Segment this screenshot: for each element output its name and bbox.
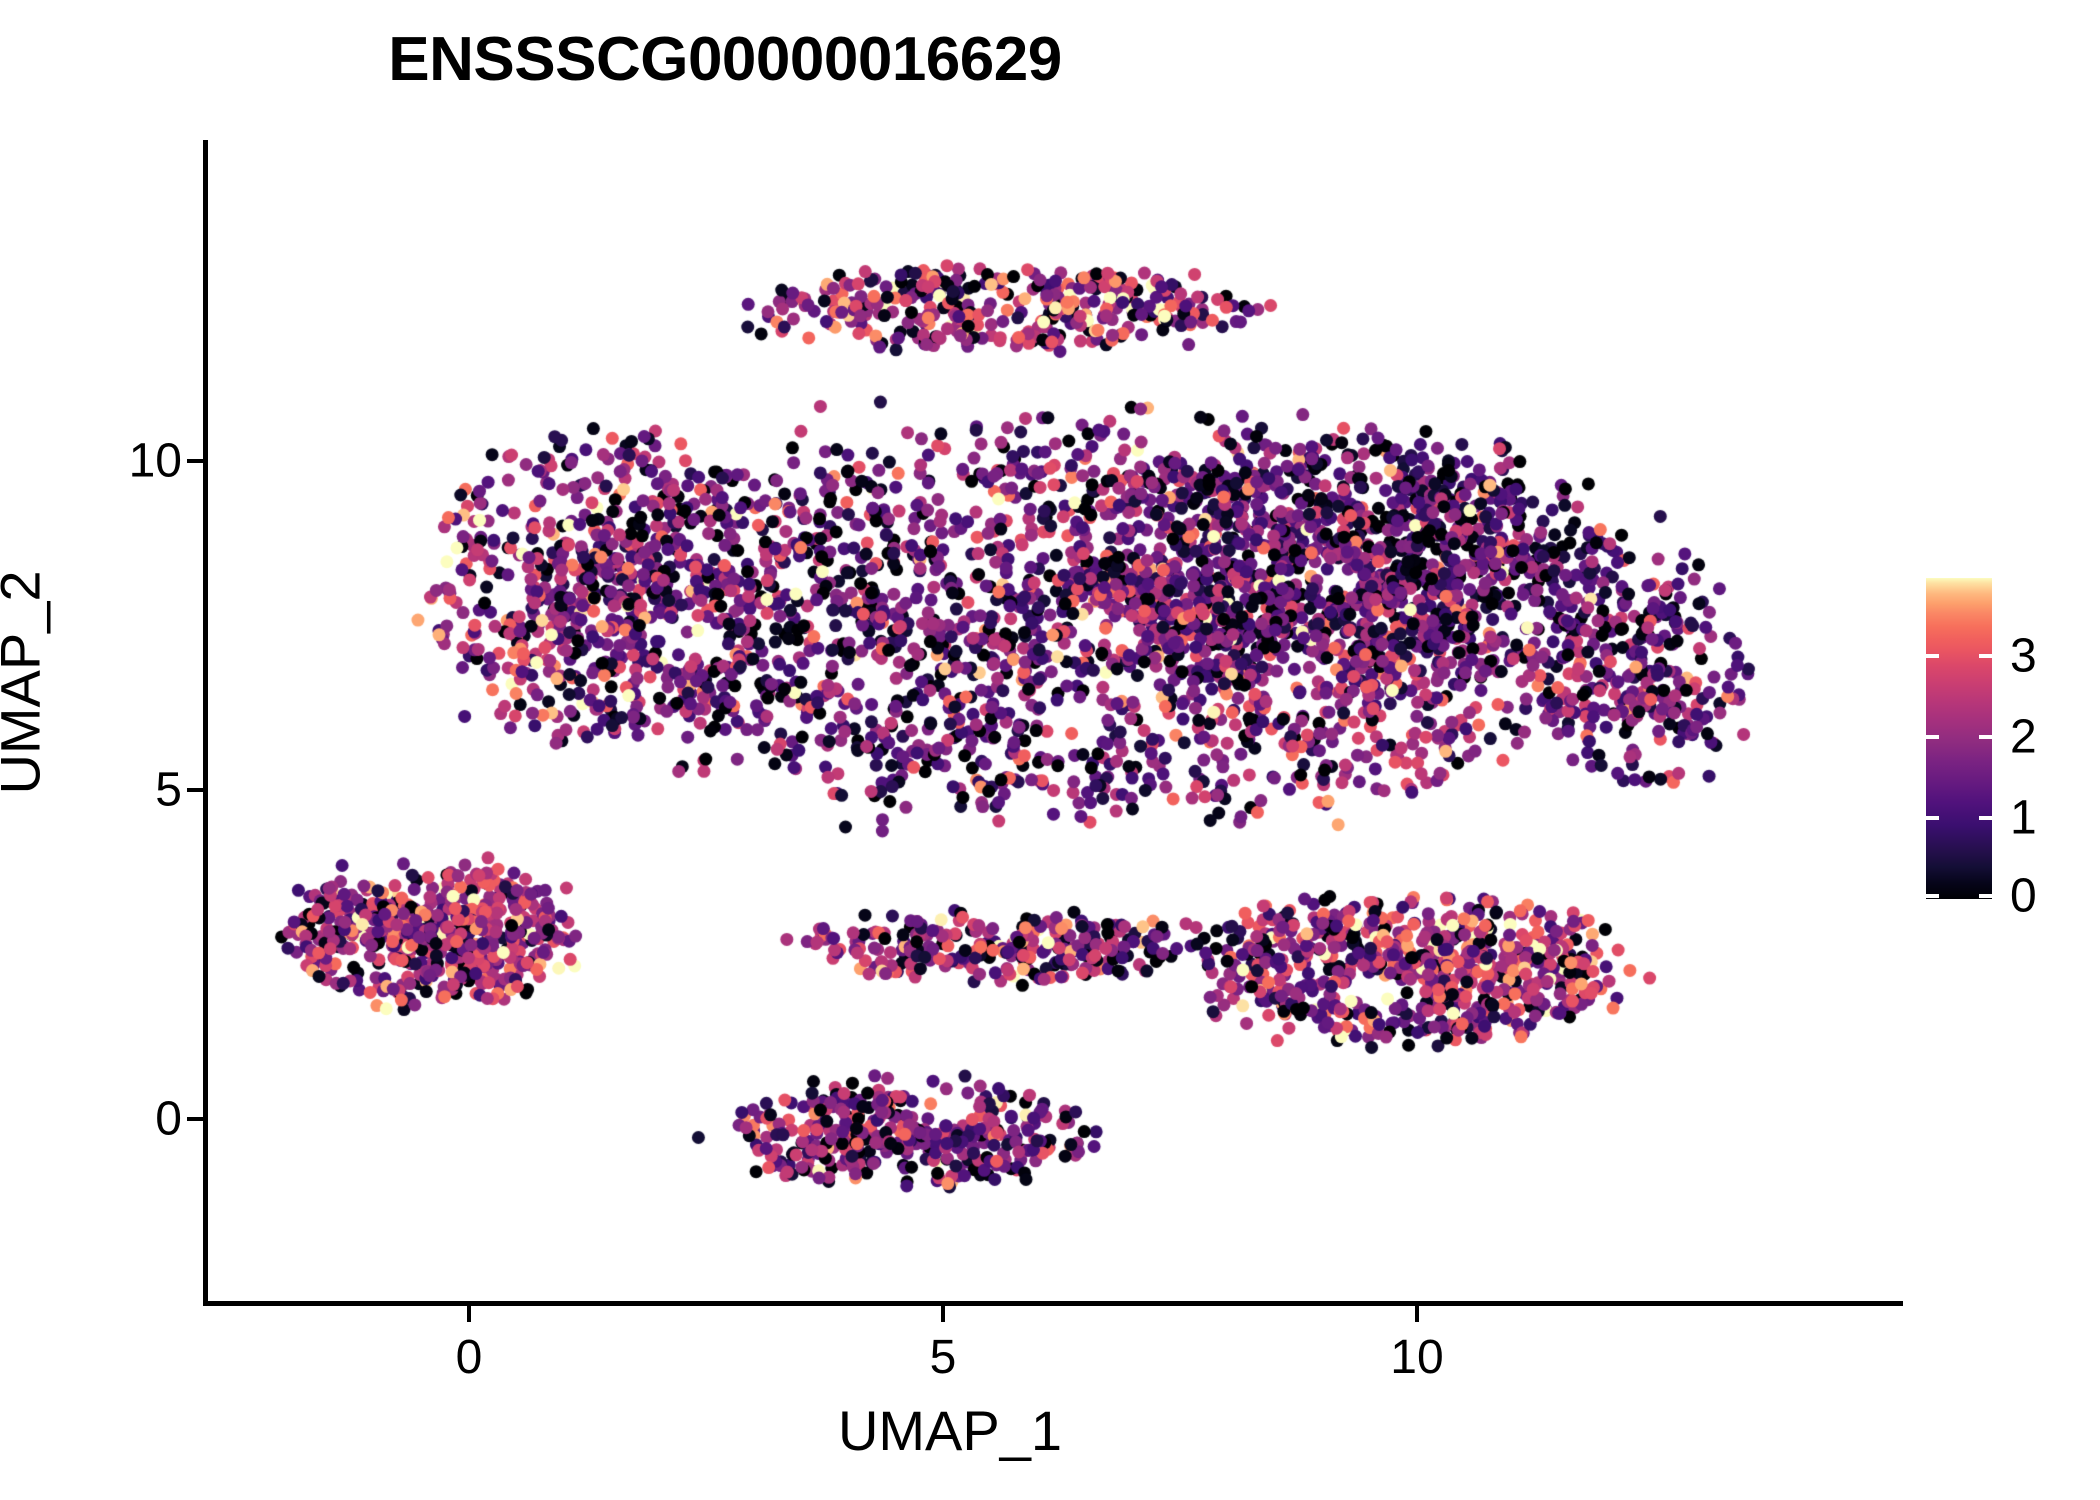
x-tick-mark-5 [941, 1306, 945, 1322]
x-tick-mark-0 [467, 1306, 471, 1322]
colorbar-legend: 3 2 1 0 [1926, 578, 1992, 899]
x-axis-line [203, 1301, 1903, 1306]
colorbar-label-0: 0 [2010, 869, 2037, 924]
y-tick-label-5: 5 [155, 763, 182, 818]
colorbar-tick-3-right [1979, 654, 1992, 658]
colorbar-label-3: 3 [2010, 629, 2037, 684]
colorbar-label-2: 2 [2010, 710, 2037, 765]
colorbar-label-1: 1 [2010, 791, 2037, 846]
scatter-plot-canvas [205, 140, 1855, 1303]
y-tick-label-10: 10 [129, 434, 182, 489]
y-tick-mark-10 [187, 459, 203, 463]
x-tick-label-5: 5 [930, 1330, 957, 1385]
colorbar-tick-1-left [1926, 816, 1939, 820]
x-tick-label-0: 0 [456, 1330, 483, 1385]
y-tick-label-0: 0 [155, 1092, 182, 1147]
y-axis-title: UMAP_2 [0, 283, 53, 1083]
y-axis-line [203, 140, 208, 1306]
colorbar-tick-0-left [1926, 894, 1939, 898]
x-tick-mark-10 [1415, 1306, 1419, 1322]
colorbar-tick-2-left [1926, 735, 1939, 739]
x-tick-label-10: 10 [1390, 1330, 1443, 1385]
page-title: ENSSSCG00000016629 [0, 24, 1450, 95]
figure-root: ENSSSCG00000016629 10 5 0 0 5 10 UMAP_1 … [0, 0, 2100, 1500]
colorbar-tick-2-right [1979, 735, 1992, 739]
colorbar-tick-0-right [1979, 894, 1992, 898]
colorbar-tick-1-right [1979, 816, 1992, 820]
y-tick-mark-0 [187, 1117, 203, 1121]
colorbar-tick-3-left [1926, 654, 1939, 658]
y-tick-mark-5 [187, 788, 203, 792]
x-axis-title: UMAP_1 [0, 1398, 1900, 1463]
